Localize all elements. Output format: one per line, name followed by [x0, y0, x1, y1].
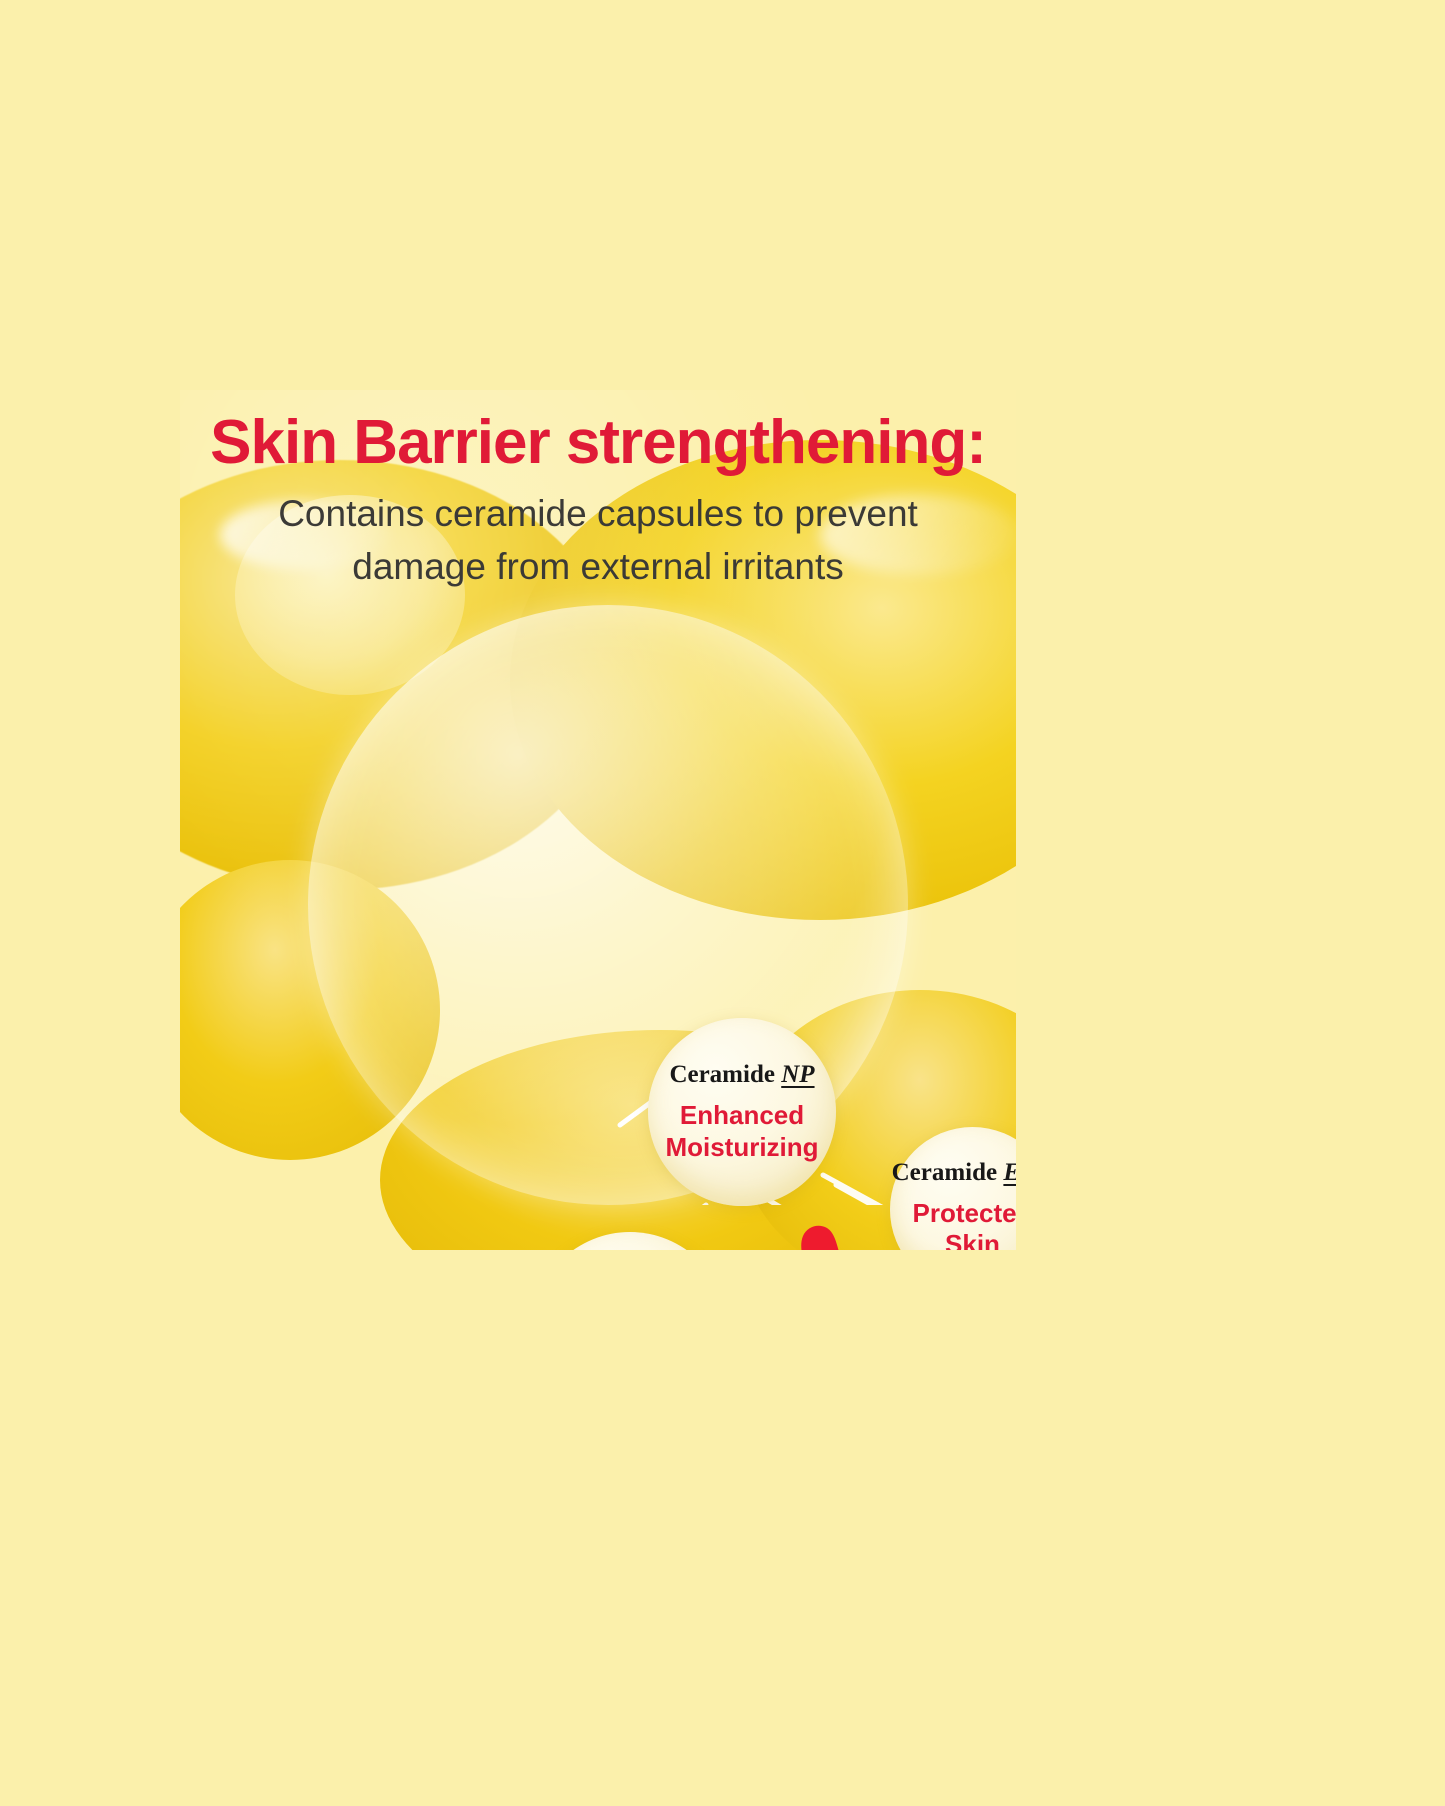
page-subtitle: Contains ceramide capsules to prevent da… — [180, 488, 1016, 593]
subtitle-line-1: Contains ceramide capsules to prevent — [180, 488, 1016, 541]
promo-image-panel: Skin Barrier strengthening: Contains cer… — [180, 390, 1016, 1250]
ceramide-5-center-blob[interactable]: Ceramide 5 — [742, 1222, 917, 1250]
ceramide-node-np[interactable]: Ceramide NP Enhanced Moisturizing — [648, 1018, 836, 1206]
benefit-line-2: Skin — [913, 1229, 1016, 1250]
ceramide-eop-label: Ceramide EOP — [892, 1159, 1016, 1187]
ceramide-eop-benefit: Protected Skin — [913, 1198, 1016, 1250]
ceramide-np-label: Ceramide NP — [669, 1061, 814, 1089]
star-blob-icon — [742, 1222, 917, 1250]
benefit-line-1: Protected — [913, 1198, 1016, 1229]
page-title: Skin Barrier strengthening: — [180, 410, 1016, 475]
subtitle-line-2: damage from external irritants — [180, 541, 1016, 594]
benefit-line-2: Moisturizing — [665, 1132, 818, 1163]
benefit-line-1: Enhanced — [665, 1100, 818, 1131]
ceramide-np-benefit: Enhanced Moisturizing — [665, 1100, 818, 1162]
